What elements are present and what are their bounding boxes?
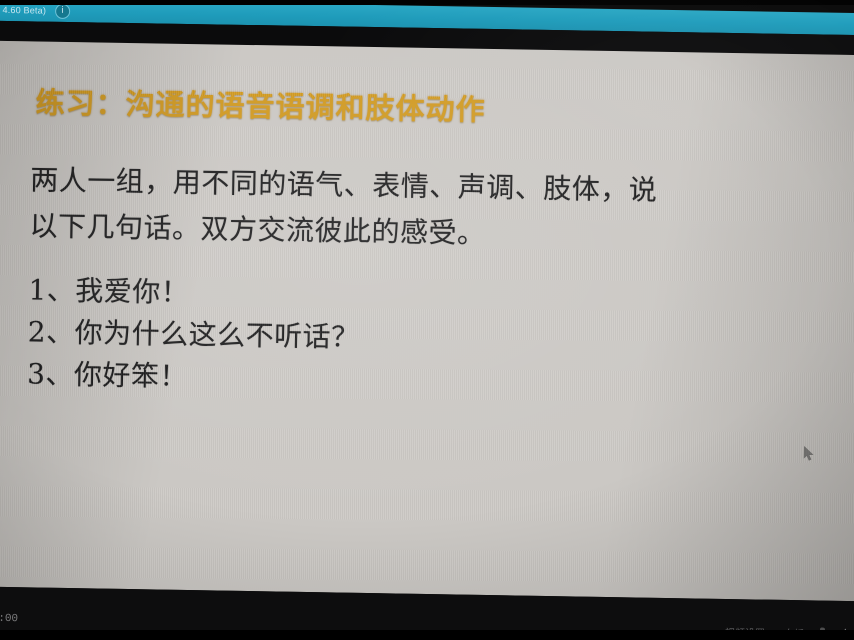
mouse-pointer-icon — [804, 446, 815, 461]
list-item: 1、我爱你！ — [28, 269, 360, 316]
list-item: 3、你好笨！ — [27, 353, 359, 400]
bezel-top — [0, 0, 854, 5]
timecode-label: 00:00 — [0, 613, 18, 626]
app-version-label: : 4.60 Beta) — [0, 5, 46, 16]
presentation-slide[interactable]: 练习：沟通的语音语调和肢体动作 两人一组，用不同的语气、表情、声调、肢体，说 以… — [0, 41, 854, 602]
info-icon[interactable]: i — [55, 3, 70, 18]
screen-photo: : 4.60 Beta) i 练习：沟通的语音语调和肢体动作 两人一组，用不同的… — [0, 0, 854, 640]
bezel-bottom — [0, 630, 854, 640]
display-screen: : 4.60 Beta) i 练习：沟通的语音语调和肢体动作 两人一组，用不同的… — [0, 0, 854, 640]
slide-paragraph: 两人一组，用不同的语气、表情、声调、肢体，说 以下几句话。双方交流彼此的感受。 — [29, 157, 820, 262]
slide-list: 1、我爱你！ 2、你为什么这么不听话？ 3、你好笨！ — [27, 269, 361, 400]
list-item: 2、你为什么这么不听话？ — [27, 311, 359, 358]
slide-title: 练习：沟通的语音语调和肢体动作 — [35, 79, 486, 128]
